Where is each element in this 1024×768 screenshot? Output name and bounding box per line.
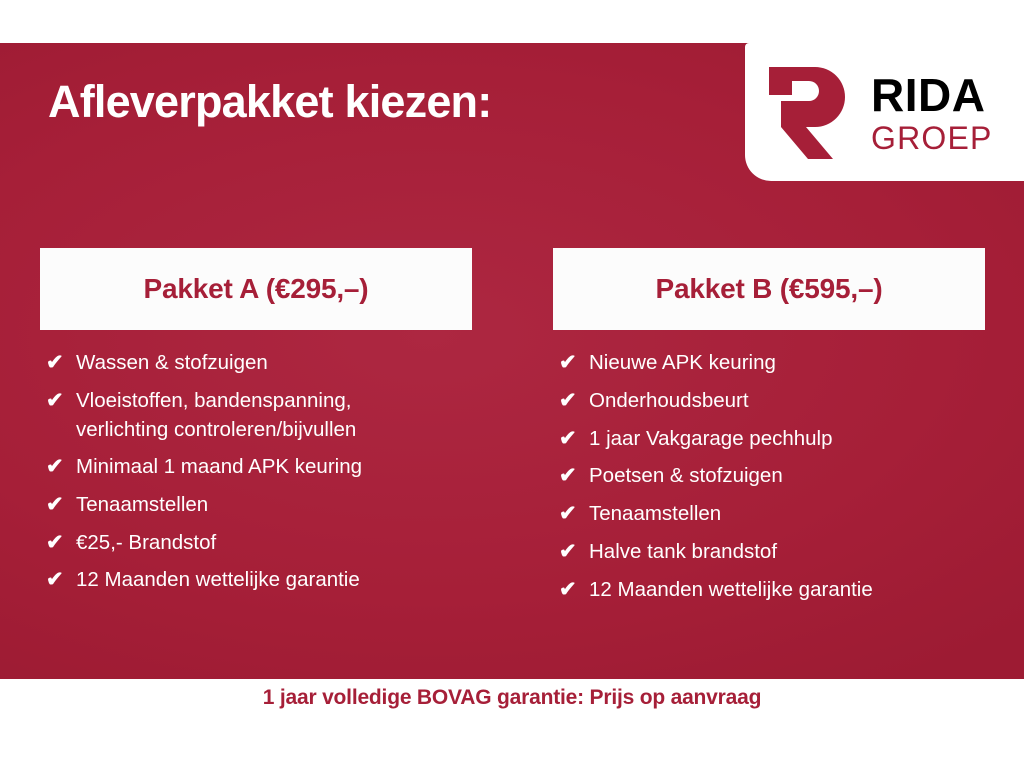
logo-name-primary: RIDA [871,72,993,118]
list-item: ✔ Wassen & stofzuigen [44,348,472,378]
list-item: ✔ Tenaamstellen [557,499,985,529]
list-item-label: Minimaal 1 maand APK keuring [76,452,472,481]
check-icon: ✔ [44,386,76,416]
check-icon: ✔ [557,424,589,454]
check-icon: ✔ [557,348,589,378]
list-item: ✔ Tenaamstellen [44,490,472,520]
list-item-label: 12 Maanden wettelijke garantie [589,575,985,604]
check-icon: ✔ [44,528,76,558]
list-item: ✔ Vloeistoffen, bandenspanning, verlicht… [44,386,472,444]
check-icon: ✔ [557,575,589,605]
check-icon: ✔ [557,461,589,491]
package-b-title: Pakket B (€595,–) [656,273,883,305]
check-icon: ✔ [557,386,589,416]
list-item: ✔ Poetsen & stofzuigen [557,461,985,491]
check-icon: ✔ [44,452,76,482]
page-title: Afleverpakket kiezen: [48,78,708,125]
list-item: ✔ €25,- Brandstof [44,528,472,558]
footer-note: 1 jaar volledige BOVAG garantie: Prijs o… [0,686,1024,710]
package-a-feature-list: ✔ Wassen & stofzuigen ✔ Vloeistoffen, ba… [40,330,472,595]
logo-name-secondary: GROEP [871,122,993,154]
poster-root: Afleverpakket kiezen: RIDA GROEP Pakket … [0,0,1024,768]
list-item: ✔ Onderhoudsbeurt [557,386,985,416]
logo: RIDA GROEP [759,55,1017,171]
list-item-label: Tenaamstellen [76,490,472,519]
list-item-label: Onderhoudsbeurt [589,386,985,415]
package-a-title: Pakket A (€295,–) [144,273,369,305]
list-item-label: 12 Maanden wettelijke garantie [76,565,472,594]
check-icon: ✔ [44,348,76,378]
list-item-label: Halve tank brandstof [589,537,985,566]
check-icon: ✔ [44,490,76,520]
package-b-feature-list: ✔ Nieuwe APK keuring ✔ Onderhoudsbeurt ✔… [553,330,985,605]
logo-panel: RIDA GROEP [745,43,1024,181]
list-item: ✔ 12 Maanden wettelijke garantie [557,575,985,605]
rida-r-monogram-icon [759,61,863,165]
list-item: ✔ Nieuwe APK keuring [557,348,985,378]
list-item-label: Tenaamstellen [589,499,985,528]
list-item-label: €25,- Brandstof [76,528,472,557]
check-icon: ✔ [557,499,589,529]
list-item: ✔ Minimaal 1 maand APK keuring [44,452,472,482]
list-item: ✔ Halve tank brandstof [557,537,985,567]
package-a-header: Pakket A (€295,–) [40,248,472,330]
list-item-label: Nieuwe APK keuring [589,348,985,377]
check-icon: ✔ [44,565,76,595]
list-item: ✔ 12 Maanden wettelijke garantie [44,565,472,595]
package-card-b[interactable]: Pakket B (€595,–) ✔ Nieuwe APK keuring ✔… [553,248,985,613]
list-item: ✔ 1 jaar Vakgarage pechhulp [557,424,985,454]
package-card-a[interactable]: Pakket A (€295,–) ✔ Wassen & stofzuigen … [40,248,472,603]
check-icon: ✔ [557,537,589,567]
logo-wordmark: RIDA GROEP [871,72,993,154]
package-b-header: Pakket B (€595,–) [553,248,985,330]
list-item-label: Poetsen & stofzuigen [589,461,985,490]
list-item-label: 1 jaar Vakgarage pechhulp [589,424,985,453]
list-item-label: Wassen & stofzuigen [76,348,472,377]
list-item-label: Vloeistoffen, bandenspanning, verlichtin… [76,386,472,444]
